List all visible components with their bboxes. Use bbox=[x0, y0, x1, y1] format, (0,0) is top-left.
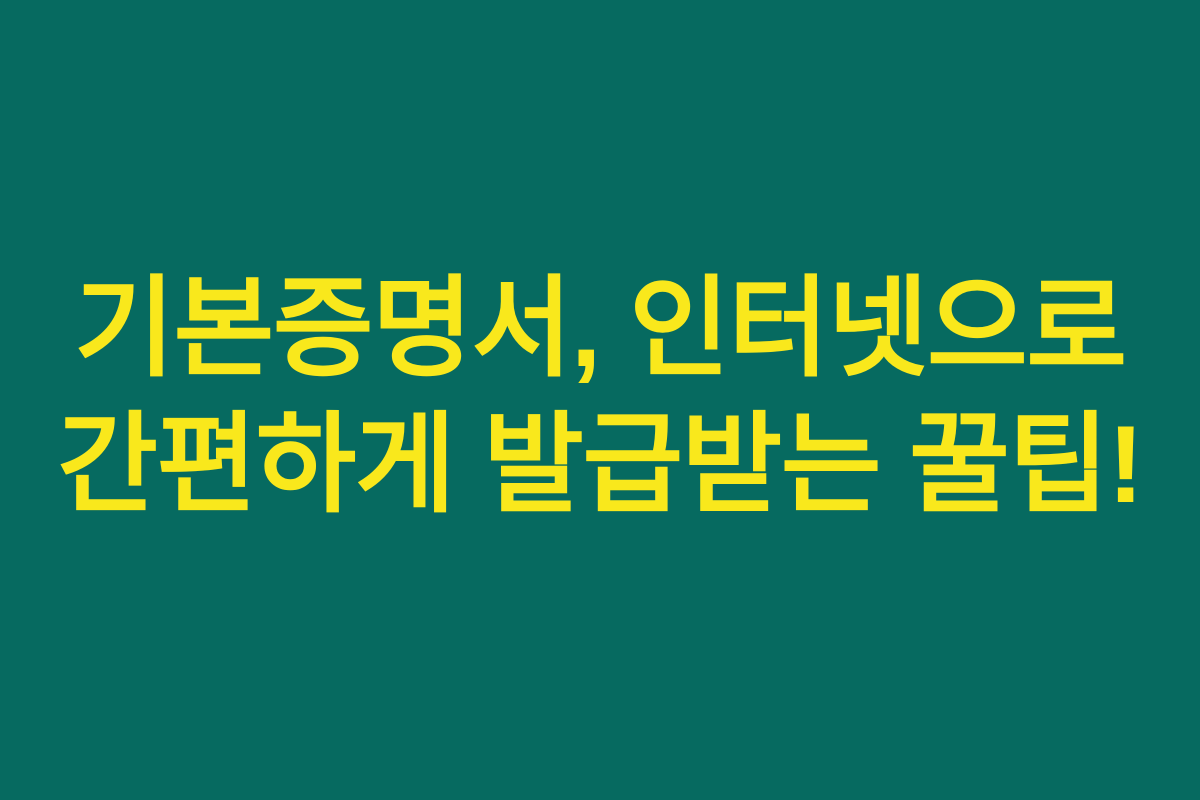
headline-line-1: 기본증명서, 인터넷으로 bbox=[0, 262, 1200, 398]
headline-block: 기본증명서, 인터넷으로 간편하게 발급받는 꿀팁! bbox=[0, 262, 1200, 533]
promo-banner: 기본증명서, 인터넷으로 간편하게 발급받는 꿀팁! bbox=[0, 0, 1200, 800]
headline-line-2: 간편하게 발급받는 꿀팁! bbox=[0, 398, 1200, 533]
